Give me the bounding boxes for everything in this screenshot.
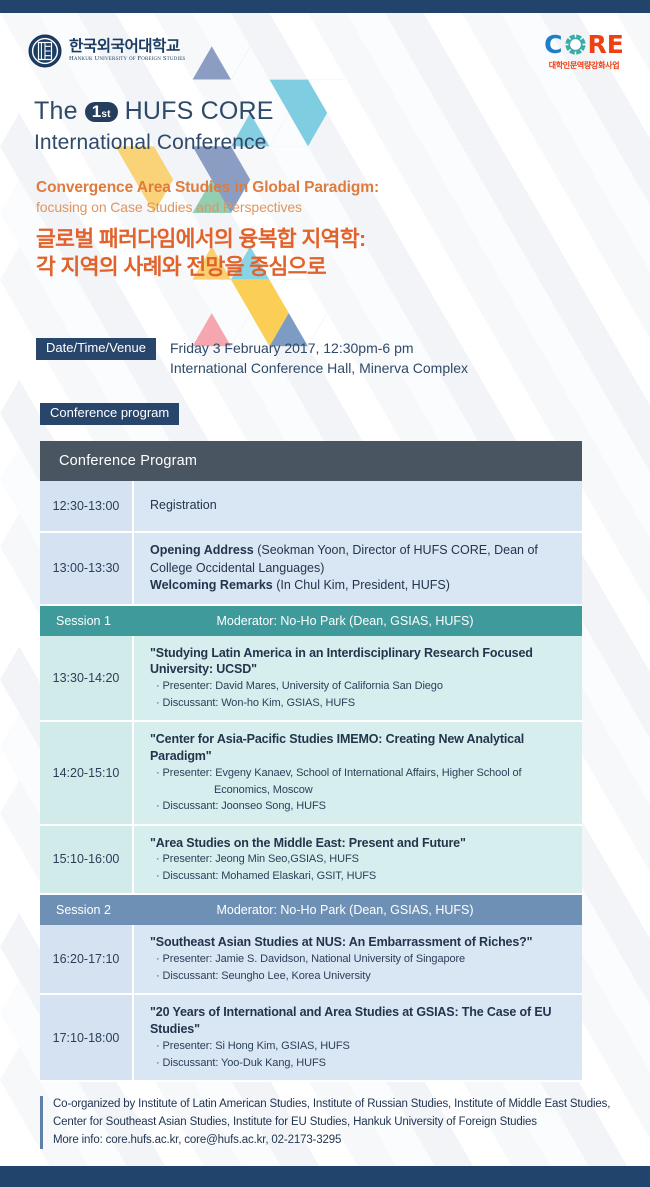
background-triangle (270, 13, 347, 80)
background-triangle (462, 280, 539, 347)
row-time: 16:20-17:10 (40, 925, 134, 993)
background-triangle (578, 80, 650, 147)
background-triangle (347, 13, 424, 80)
footer-line-2: Center for Southeast Asian Studies, Inst… (53, 1114, 610, 1132)
background-triangle (270, 1147, 347, 1166)
background-triangle (270, 80, 347, 147)
background-triangle (616, 1013, 650, 1080)
background-triangle (501, 146, 578, 213)
background-triangle (616, 880, 650, 947)
background-triangle (539, 280, 616, 347)
talk-detail: · Discussant: Joonseo Song, HUFS (150, 798, 570, 815)
background-triangle (578, 813, 650, 880)
background-triangle (0, 1147, 77, 1166)
talk-detail: · Presenter: David Mares, University of … (150, 678, 570, 695)
table-body: 12:30-13:00Registration13:00-13:30Openin… (40, 481, 582, 1082)
background-triangle (308, 280, 385, 347)
background-triangle (308, 1147, 385, 1166)
background-triangle (0, 280, 77, 347)
conference-poster: 한국외국어대학교 Hankuk University of Foreign St… (0, 0, 650, 1187)
background-triangle (462, 1147, 539, 1166)
background-triangle (77, 280, 154, 347)
background-triangle (501, 1147, 578, 1166)
background-triangle (424, 1147, 501, 1166)
talk-title: "Studying Latin America in an Interdisci… (150, 645, 570, 679)
background-triangle (308, 13, 385, 80)
background-triangle (39, 1147, 116, 1166)
background-triangle (462, 346, 539, 413)
title-line-1: The 1st HUFS CORE (34, 98, 274, 125)
background-triangle (116, 1147, 193, 1166)
background-triangle (424, 80, 501, 147)
background-triangle (501, 80, 578, 147)
background-triangle (385, 146, 462, 213)
background-triangle (308, 280, 385, 347)
background-triangle (77, 1147, 154, 1166)
background-triangle (424, 146, 501, 213)
subtitle-english-line-2: focusing on Case Studies and Perspective… (36, 198, 379, 216)
background-triangle (501, 280, 578, 347)
background-triangle (270, 280, 347, 347)
background-triangle (231, 1147, 308, 1166)
background-triangle (616, 213, 650, 280)
row-content: Registration (134, 481, 582, 531)
talk-detail: · Discussant: Mohamed Elaskari, GSIT, HU… (150, 868, 570, 885)
background-triangle (308, 80, 385, 147)
background-triangle (231, 1147, 308, 1166)
talk-detail: · Discussant: Won-ho Kim, GSIAS, HUFS (150, 695, 570, 712)
background-triangle (578, 880, 650, 947)
background-triangle (616, 546, 650, 613)
table-row: 14:20-15:10"Center for Asia-Pacific Stud… (40, 722, 582, 825)
background-triangle (462, 13, 539, 80)
background-triangle (501, 346, 578, 413)
background-triangle (616, 413, 650, 480)
background-triangle (424, 280, 501, 347)
background-triangle (385, 213, 462, 280)
background-triangle (539, 146, 616, 213)
row-time: 13:30-14:20 (40, 636, 134, 721)
background-triangle (578, 680, 650, 747)
row-content: "Studying Latin America in an Interdisci… (134, 636, 582, 721)
datetime-line-1: Friday 3 February 2017, 12:30pm-6 pm (170, 338, 468, 358)
background-triangle (231, 13, 308, 80)
row-time: 14:20-15:10 (40, 722, 134, 823)
ordinal-suffix: st (101, 110, 110, 120)
background-triangle (424, 213, 501, 280)
background-triangle (77, 280, 154, 347)
talk-detail: · Presenter: Jeong Min Seo,GSIAS, HUFS (150, 851, 570, 868)
background-triangle (578, 213, 650, 280)
background-triangle (385, 80, 462, 147)
background-triangle (347, 80, 424, 147)
background-triangle (578, 280, 650, 347)
background-triangle (39, 280, 116, 347)
session-header: Session 1Moderator: No-Ho Park (Dean, GS… (40, 606, 582, 636)
background-triangle (539, 346, 616, 413)
background-triangle (462, 13, 539, 80)
session-label: Session 2 (40, 903, 148, 917)
background-triangle (424, 13, 501, 80)
session-label: Session 1 (40, 614, 148, 628)
background-triangle (616, 146, 650, 213)
table-row: 15:10-16:00"Area Studies on the Middle E… (40, 826, 582, 896)
background-triangle (539, 80, 616, 147)
background-triangle (578, 747, 650, 814)
row-text-line: College Occidental Languages) (150, 560, 570, 578)
background-triangle (347, 13, 424, 80)
background-triangle (616, 1147, 650, 1166)
background-triangle (578, 80, 650, 147)
table-row: 12:30-13:00Registration (40, 481, 582, 533)
accent-triangle (193, 280, 270, 347)
core-letters-re: RE (588, 32, 624, 57)
background-triangle (462, 346, 539, 413)
background-triangle (616, 480, 650, 547)
datetime-tag: Date/Time/Venue (36, 338, 156, 360)
subtitle-korean-line-2: 각 지역의 사례와 전망을 중심으로 (36, 254, 379, 282)
background-triangle (578, 146, 650, 213)
background-triangle (501, 346, 578, 413)
background-triangle (616, 1147, 650, 1166)
core-program-logo: C RE 대학인문역량강화사업 (532, 32, 636, 71)
session-header: Session 2Moderator: No-Ho Park (Dean, GS… (40, 895, 582, 925)
background-triangle (616, 680, 650, 747)
background-triangle (539, 1147, 616, 1166)
background-triangle (385, 280, 462, 347)
background-triangle (578, 947, 650, 1014)
background-triangle (0, 1147, 77, 1166)
background-triangle (539, 80, 616, 147)
background-triangle (424, 280, 501, 347)
table-header: Conference Program (40, 441, 582, 481)
background-triangle (231, 13, 308, 80)
background-triangle (616, 280, 650, 347)
background-triangle (347, 280, 424, 347)
background-triangle (578, 747, 650, 814)
accent-triangle (193, 13, 270, 80)
background-triangle (193, 1147, 270, 1166)
background-triangle (616, 213, 650, 280)
accent-triangle (231, 280, 308, 347)
background-triangle (193, 1147, 270, 1166)
title-line-2: International Conference (34, 131, 274, 155)
conference-program-tag: Conference program (40, 403, 179, 425)
background-triangle (154, 1147, 231, 1166)
background-triangle (424, 213, 501, 280)
background-triangle (578, 613, 650, 680)
accent-triangle (270, 280, 347, 347)
background-triangle (578, 813, 650, 880)
talk-title: "Area Studies on the Middle East: Presen… (150, 835, 570, 852)
background-triangle (616, 1080, 650, 1147)
background-triangle (116, 1147, 193, 1166)
background-triangle (616, 1013, 650, 1080)
background-triangle (385, 1147, 462, 1166)
talk-detail: · Presenter: Evgeny Kanaev, School of In… (150, 765, 570, 798)
background-triangle (578, 880, 650, 947)
background-triangle (154, 1147, 231, 1166)
background-triangle (308, 80, 385, 147)
talk-detail: · Discussant: Seungho Lee, Korea Univers… (150, 968, 570, 985)
background-triangle (424, 13, 501, 80)
background-triangle (578, 546, 650, 613)
background-triangle (616, 947, 650, 1014)
row-content: Opening Address (Seokman Yoon, Director … (134, 533, 582, 604)
row-content: "Southeast Asian Studies at NUS: An Emba… (134, 925, 582, 993)
session-moderator: Moderator: No-Ho Park (Dean, GSIAS, HUFS… (148, 614, 582, 628)
background-triangle (616, 280, 650, 347)
hufs-university-logo: 한국외국어대학교 Hankuk University of Foreign St… (28, 34, 185, 68)
footer-line-1: Co-organized by Institute of Latin Ameri… (53, 1096, 610, 1114)
session-moderator: Moderator: No-Ho Park (Dean, GSIAS, HUFS… (148, 903, 582, 917)
footer-line-3: More info: core.hufs.ac.kr, core@hufs.ac… (53, 1132, 610, 1150)
talk-title: "Southeast Asian Studies at NUS: An Emba… (150, 934, 570, 951)
ordinal-badge: 1st (85, 102, 118, 122)
top-navy-bar (0, 0, 650, 13)
poster-title: The 1st HUFS CORE International Conferen… (34, 98, 274, 155)
conference-program-table: Conference Program 12:30-13:00Registrati… (40, 441, 582, 1082)
datetime-venue-section: Date/Time/Venue Friday 3 February 2017, … (36, 338, 468, 379)
background-triangle (347, 280, 424, 347)
row-time: 12:30-13:00 (40, 481, 134, 531)
talk-title: "20 Years of International and Area Stud… (150, 1004, 570, 1038)
row-plain-text: Registration (150, 497, 217, 515)
hufs-english-name: Hankuk University of Foreign Studies (69, 56, 185, 63)
background-triangle (539, 346, 616, 413)
background-triangle (462, 80, 539, 147)
background-triangle (462, 146, 539, 213)
accent-triangle (270, 80, 347, 147)
subtitle-korean-line-1: 글로벌 패러다임에서의 융복합 지역학: (36, 226, 379, 254)
background-triangle (424, 80, 501, 147)
background-triangle (578, 680, 650, 747)
background-triangle (462, 1147, 539, 1166)
row-content: "Area Studies on the Middle East: Presen… (134, 826, 582, 894)
background-triangle (616, 1080, 650, 1147)
background-triangle (39, 1147, 116, 1166)
background-triangle (578, 346, 650, 413)
background-triangle (270, 1147, 347, 1166)
background-triangle (462, 280, 539, 347)
row-text-line: Opening Address (Seokman Yoon, Director … (150, 542, 570, 560)
table-row: 13:30-14:20"Studying Latin America in an… (40, 636, 582, 723)
background-triangle (501, 213, 578, 280)
background-triangle (385, 80, 462, 147)
background-triangle (308, 1147, 385, 1166)
background-triangle (578, 613, 650, 680)
background-triangle (578, 413, 650, 480)
background-triangle (616, 747, 650, 814)
background-triangle (578, 280, 650, 347)
background-triangle (424, 1147, 501, 1166)
background-triangle (193, 13, 270, 80)
bottom-navy-bar (0, 1166, 650, 1187)
subtitle-english-line-1: Convergence Area Studies in Global Parad… (36, 178, 379, 197)
background-triangle (385, 13, 462, 80)
background-triangle (385, 1147, 462, 1166)
poster-subtitle: Convergence Area Studies in Global Parad… (36, 178, 379, 281)
background-triangle (501, 80, 578, 147)
background-triangle (347, 1147, 424, 1166)
talk-title: "Center for Asia-Pacific Studies IMEMO: … (150, 731, 570, 765)
background-triangle (77, 1147, 154, 1166)
background-triangle (539, 280, 616, 347)
ordinal-number: 1 (92, 103, 102, 120)
background-triangle (462, 80, 539, 147)
background-triangle (193, 280, 270, 347)
background-triangle (616, 813, 650, 880)
background-triangle (270, 13, 347, 80)
background-triangle (616, 346, 650, 413)
background-triangle (231, 280, 308, 347)
background-triangle (616, 546, 650, 613)
background-triangle (501, 280, 578, 347)
background-triangle (385, 280, 462, 347)
background-triangle (462, 146, 539, 213)
hufs-seal-icon (28, 34, 62, 68)
background-triangle (616, 146, 650, 213)
talk-detail-continuation: Economics, Moscow (156, 782, 570, 799)
background-triangle (39, 280, 116, 347)
background-triangle (578, 480, 650, 547)
background-triangle (616, 413, 650, 480)
talk-detail: · Discussant: Yoo-Duk Kang, HUFS (150, 1055, 570, 1072)
background-triangle (578, 947, 650, 1014)
background-triangle (578, 1013, 650, 1080)
talk-detail: · Presenter: Si Hong Kim, GSIAS, HUFS (150, 1038, 570, 1055)
hufs-korean-name: 한국외국어대학교 (69, 39, 185, 55)
background-triangle (116, 280, 193, 347)
background-triangle (578, 213, 650, 280)
background-triangle (578, 1147, 650, 1166)
title-word-the: The (34, 98, 78, 125)
background-triangle (578, 1147, 650, 1166)
background-triangle (616, 80, 650, 147)
background-triangle (385, 146, 462, 213)
background-triangle (539, 146, 616, 213)
background-triangle (501, 213, 578, 280)
core-letter-c: C (544, 32, 562, 57)
datetime-text: Friday 3 February 2017, 12:30pm-6 pm Int… (170, 338, 468, 379)
background-triangle (0, 280, 77, 347)
row-content: "20 Years of International and Area Stud… (134, 995, 582, 1080)
datetime-line-2: International Conference Hall, Minerva C… (170, 358, 468, 378)
background-triangle (308, 13, 385, 80)
background-triangle (462, 213, 539, 280)
background-triangle (578, 346, 650, 413)
background-triangle (539, 213, 616, 280)
background-triangle (616, 613, 650, 680)
title-brand: HUFS CORE (125, 98, 274, 125)
background-triangle (578, 146, 650, 213)
background-triangle (347, 80, 424, 147)
background-triangle (462, 213, 539, 280)
background-triangle (616, 613, 650, 680)
background-triangle (616, 947, 650, 1014)
background-triangle (424, 146, 501, 213)
background-triangle (347, 1147, 424, 1166)
background-triangle (385, 13, 462, 80)
background-triangle (578, 413, 650, 480)
background-triangle (578, 480, 650, 547)
background-triangle (385, 213, 462, 280)
background-triangle (154, 280, 231, 347)
background-triangle (616, 880, 650, 947)
footer-credits: Co-organized by Institute of Latin Ameri… (40, 1096, 610, 1149)
row-time: 15:10-16:00 (40, 826, 134, 894)
background-triangle (616, 480, 650, 547)
background-triangle (539, 1147, 616, 1166)
background-triangle (616, 346, 650, 413)
row-time: 13:00-13:30 (40, 533, 134, 604)
background-triangle (578, 1013, 650, 1080)
background-triangle (501, 146, 578, 213)
table-row: 17:10-18:00"20 Years of International an… (40, 995, 582, 1082)
row-time: 17:10-18:00 (40, 995, 134, 1080)
background-triangle (154, 280, 231, 347)
background-triangle (616, 747, 650, 814)
core-logo-subtitle: 대학인문역량강화사업 (532, 60, 636, 71)
background-triangle (116, 280, 193, 347)
background-triangle (616, 80, 650, 147)
background-triangle (539, 213, 616, 280)
row-text-line: Welcoming Remarks (In Chul Kim, Presiden… (150, 577, 570, 595)
background-triangle (501, 1147, 578, 1166)
row-content: "Center for Asia-Pacific Studies IMEMO: … (134, 722, 582, 823)
background-triangle (578, 546, 650, 613)
talk-detail: · Presenter: Jamie S. Davidson, National… (150, 951, 570, 968)
table-row: 13:00-13:30Opening Address (Seokman Yoon… (40, 533, 582, 606)
core-gear-o-icon (564, 33, 587, 56)
table-row: 16:20-17:10"Southeast Asian Studies at N… (40, 925, 582, 995)
background-triangle (616, 813, 650, 880)
background-triangle (616, 680, 650, 747)
